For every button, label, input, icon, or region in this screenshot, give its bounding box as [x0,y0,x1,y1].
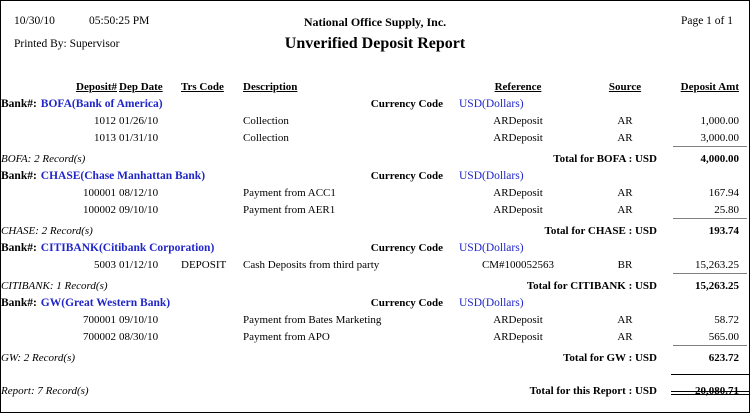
bank-record-count: CITIBANK: 1 Record(s) [1,271,239,292]
cell-source: AR [579,309,671,326]
column-header-reference: Reference [457,77,579,93]
cell-description: Payment from Bates Marketing [239,309,457,326]
bank-record-count: CHASE: 2 Record(s) [1,216,239,237]
column-header-deposit-no: Deposit# [1,77,119,93]
page-indicator: Page 1 of 1 [681,15,733,27]
currency-code-label: Currency Code [239,93,457,110]
cell-description: Payment from APO [239,326,457,343]
report-record-count: Report: 7 Record(s) [1,371,239,397]
cell-deposit-no: 700001 [1,309,119,326]
column-header-trs-code: Trs Code [171,77,239,93]
bank-total-label: Total for GW : USD [239,343,671,364]
report-total-amount: 20,080.71 [671,371,750,397]
table-row[interactable]: 10000209/10/10Payment from AER1ARDeposit… [1,199,750,216]
cell-trs-code: DEPOSIT [171,254,239,271]
table-row[interactable]: 101201/26/10CollectionARDepositAR1,000.0… [1,110,750,127]
cell-deposit-amt: 25.80 [671,199,750,216]
cell-trs-code [171,110,239,127]
report-header-line-2: Printed By: Supervisor Unverified Deposi… [1,37,749,59]
currency-code-label: Currency Code [239,237,457,254]
bank-total-amount: 193.74 [671,216,750,237]
currency-code-value[interactable]: USD(Dollars) [457,237,750,254]
bank-subtotal-row: GW: 2 Record(s)Total for GW : USD623.72 [1,343,750,364]
cell-trs-code [171,127,239,144]
cell-trs-code [171,199,239,216]
cell-source: AR [579,199,671,216]
subtotal-rule [673,273,747,274]
cell-deposit-no: 100001 [1,182,119,199]
bank-total-amount: 4,000.00 [671,144,750,165]
cell-description: Collection [239,127,457,144]
currency-code-label: Currency Code [239,292,457,309]
bank-name-link[interactable]: CITIBANK(Citibank Corporation) [37,242,214,254]
cell-description: Payment from ACC1 [239,182,457,199]
report-total-label: Total for this Report : USD [239,371,671,397]
bank-record-count: GW: 2 Record(s) [1,343,239,364]
bank-record-count: BOFA: 2 Record(s) [1,144,239,165]
cell-reference: ARDeposit [457,309,579,326]
cell-reference: ARDeposit [457,110,579,127]
bank-group-header: Bank#:CHASE(Chase Manhattan Bank)Currenc… [1,165,750,182]
cell-source: BR [579,254,671,271]
bank-total-label: Total for BOFA : USD [239,144,671,165]
report-page: 10/30/10 05:50:25 PM National Office Sup… [0,0,750,413]
cell-trs-code [171,182,239,199]
bank-total-value: 623.72 [709,352,739,364]
cell-description: Cash Deposits from third party [239,254,457,271]
bank-total-label: Total for CHASE : USD [239,216,671,237]
bank-subtotal-row: CITIBANK: 1 Record(s)Total for CITIBANK … [1,271,750,292]
cell-reference: ARDeposit [457,127,579,144]
cell-deposit-no: 1012 [1,110,119,127]
bank-group-header: Bank#:BOFA(Bank of America)Currency Code… [1,93,750,110]
cell-deposit-no: 1013 [1,127,119,144]
bank-group-header: Bank#:CITIBANK(Citibank Corporation)Curr… [1,237,750,254]
column-header-source: Source [579,77,671,93]
cell-reference: ARDeposit [457,182,579,199]
bank-prefix-label: Bank#:CITIBANK(Citibank Corporation) [1,237,239,254]
cell-description: Payment from AER1 [239,199,457,216]
bank-prefix-label: Bank#:GW(Great Western Bank) [1,292,239,309]
cell-source: AR [579,110,671,127]
bank-subtotal-row: CHASE: 2 Record(s)Total for CHASE : USD1… [1,216,750,237]
cell-dep-date: 01/26/10 [119,110,171,127]
report-total-row: Report: 7 Record(s)Total for this Report… [1,371,750,397]
cell-source: AR [579,326,671,343]
grandtotal-rule-below-inner [671,391,749,392]
cell-deposit-no: 100002 [1,199,119,216]
cell-dep-date: 09/10/10 [119,199,171,216]
bank-prefix-label: Bank#:CHASE(Chase Manhattan Bank) [1,165,239,182]
bank-total-amount: 15,263.25 [671,271,750,292]
bank-total-label: Total for CITIBANK : USD [239,271,671,292]
cell-reference: CM#100052563 [457,254,579,271]
subtotal-rule [673,345,747,346]
grandtotal-rule-below-outer [671,394,749,395]
bank-total-value: 15,263.25 [695,280,739,292]
currency-code-value[interactable]: USD(Dollars) [457,93,750,110]
currency-code-value[interactable]: USD(Dollars) [457,165,750,182]
cell-dep-date: 08/30/10 [119,326,171,343]
table-header-row: Deposit# Dep Date Trs Code Description R… [1,77,750,93]
bank-total-value: 4,000.00 [701,153,740,165]
table-row[interactable]: 70000109/10/10Payment from Bates Marketi… [1,309,750,326]
company-name: National Office Supply, Inc. [1,15,749,30]
currency-code-value[interactable]: USD(Dollars) [457,292,750,309]
cell-dep-date: 08/12/10 [119,182,171,199]
column-header-description: Description [239,77,457,93]
subtotal-rule [673,218,747,219]
cell-deposit-amt: 1,000.00 [671,110,750,127]
cell-deposit-amt: 58.72 [671,309,750,326]
cell-reference: ARDeposit [457,326,579,343]
cell-reference: ARDeposit [457,199,579,216]
cell-deposit-no: 700002 [1,326,119,343]
cell-deposit-amt: 167.94 [671,182,750,199]
bank-total-value: 193.74 [709,225,739,237]
bank-group-header: Bank#:GW(Great Western Bank)Currency Cod… [1,292,750,309]
cell-trs-code [171,326,239,343]
cell-source: AR [579,127,671,144]
page-title: Unverified Deposit Report [1,35,749,53]
bank-prefix-text: Bank#: [1,242,37,254]
currency-code-label: Currency Code [239,165,457,182]
column-header-dep-date: Dep Date [119,77,171,93]
cell-deposit-no: 5003 [1,254,119,271]
table-row[interactable]: 10000108/12/10Payment from ACC1ARDeposit… [1,182,750,199]
bank-subtotal-row: BOFA: 2 Record(s)Total for BOFA : USD4,0… [1,144,750,165]
bank-name-link[interactable]: BOFA(Bank of America) [37,98,163,110]
table-row[interactable]: 101301/31/10CollectionARDepositAR3,000.0… [1,127,750,144]
bank-prefix-label: Bank#:BOFA(Bank of America) [1,93,239,110]
bank-prefix-text: Bank#: [1,170,37,182]
footer-spacer [1,364,750,371]
table-row[interactable]: 70000208/30/10Payment from APOARDepositA… [1,326,750,343]
cell-description: Collection [239,110,457,127]
cell-source: AR [579,182,671,199]
bank-total-amount: 623.72 [671,343,750,364]
bank-name-link[interactable]: CHASE(Chase Manhattan Bank) [37,170,205,182]
column-header-deposit-amt: Deposit Amt [671,77,750,93]
table-row[interactable]: 500301/12/10DEPOSITCash Deposits from th… [1,254,750,271]
bank-prefix-text: Bank#: [1,98,37,110]
cell-deposit-amt: 15,263.25 [671,254,750,271]
cell-deposit-amt: 3,000.00 [671,127,750,144]
cell-dep-date: 01/31/10 [119,127,171,144]
deposit-report-table: Deposit# Dep Date Trs Code Description R… [1,77,750,397]
cell-dep-date: 09/10/10 [119,309,171,326]
cell-deposit-amt: 565.00 [671,326,750,343]
subtotal-rule [673,146,747,147]
grandtotal-rule-above [671,374,749,375]
bank-prefix-text: Bank#: [1,297,37,309]
report-body: Bank#:BOFA(Bank of America)Currency Code… [1,93,750,397]
report-header-line-1: 10/30/10 05:50:25 PM National Office Sup… [1,15,749,31]
cell-dep-date: 01/12/10 [119,254,171,271]
bank-name-link[interactable]: GW(Great Western Bank) [37,297,170,309]
cell-trs-code [171,309,239,326]
